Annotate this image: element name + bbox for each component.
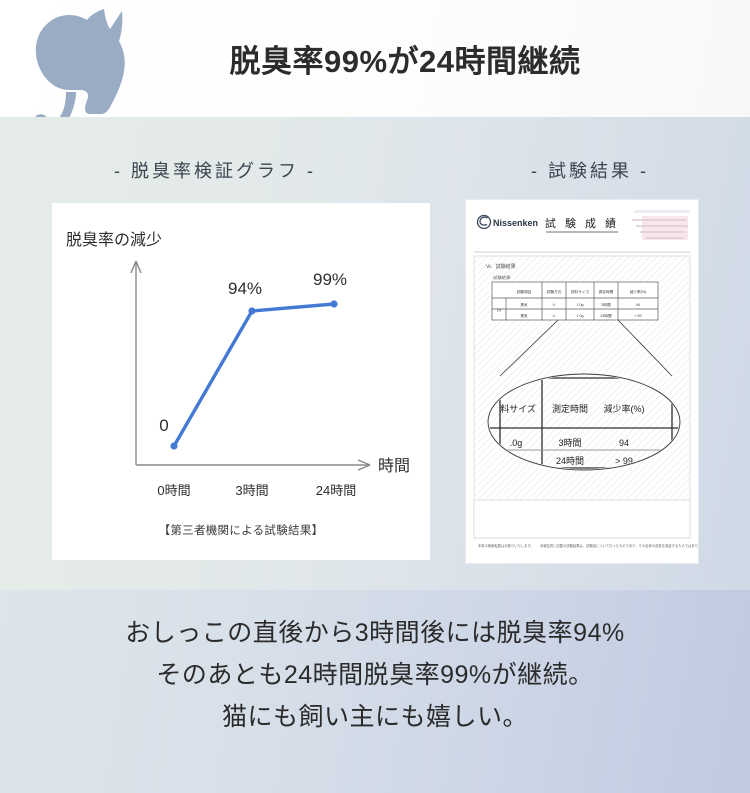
- line-chart: 脱臭率の減少 時間 0 94% 99% 0時間 3時間 24時間: [52, 203, 430, 523]
- document-title: 試 験 成 績: [545, 216, 619, 230]
- description-line-3: 猫にも飼い主にも嬉しい。: [0, 696, 750, 738]
- src-row-index: (1): [497, 308, 501, 312]
- x-tick-0h: 0時間: [157, 483, 190, 498]
- point-label-0: 0: [159, 416, 168, 435]
- graph-section-heading: - 脱臭率検証グラフ -: [0, 157, 430, 183]
- src-r1c2: 1.0g: [577, 314, 584, 318]
- src-r1c3: 24時間: [600, 313, 612, 318]
- point-label-94: 94%: [228, 279, 262, 298]
- src-r0c3: 3時間: [601, 302, 611, 307]
- page-title: 脱臭率99%が24時間継続: [0, 0, 750, 117]
- footer-note-right: 本報告書に記載の試験結果は、試験品について行ったものであり、その全体の品質を保証…: [540, 543, 698, 548]
- zoom-r0-size: .0g: [510, 438, 523, 448]
- src-r1c4: > 99: [634, 314, 641, 318]
- data-point-0h: [170, 442, 177, 449]
- content-band: - 脱臭率検証グラフ - - 試験結果 - 脱臭率の減少 時間 0 94% 99…: [0, 117, 750, 590]
- brand-name: Nissenken: [493, 218, 538, 228]
- description-line-1: おしっこの直後から3時間後には脱臭率94%: [0, 612, 750, 654]
- src-r0c2: 1.0g: [577, 303, 584, 307]
- src-col-3: 測定時間: [599, 289, 614, 294]
- x-tick-3h: 3時間: [235, 483, 268, 498]
- description-line-2: そのあとも24時間脱臭率99%が継続。: [0, 654, 750, 696]
- section-label: Ⅵ．試験結果: [486, 263, 516, 270]
- src-col-2: 試料サイズ: [571, 289, 590, 294]
- src-col-4: 減少率(%): [630, 289, 647, 294]
- data-line: [174, 304, 334, 446]
- point-label-99: 99%: [313, 270, 347, 289]
- subsection-label: -試験結果-: [492, 274, 512, 281]
- deodorization-graph-card: 脱臭率の減少 時間 0 94% 99% 0時間 3時間 24時間 【第三者機関に…: [52, 203, 430, 560]
- src-r1c0: 臭気: [520, 313, 528, 318]
- data-point-24h: [330, 300, 337, 307]
- src-col-1: 試験方式: [547, 289, 562, 294]
- src-r0c4: 94: [636, 303, 640, 307]
- x-tick-24h: 24時間: [316, 483, 356, 498]
- source-result-table: 試験項目 試験方式 試料サイズ 測定時間 減少率(%) (1) 臭気 ① 1.0…: [492, 282, 658, 320]
- data-point-3h: [248, 307, 255, 314]
- test-report-document-card: Nissenken 試 験 成 績 Ⅵ．試験結果 -試験結果-: [466, 200, 698, 563]
- y-axis-label: 脱臭率の減少: [66, 231, 162, 249]
- zoom-r0-time: 3時間: [558, 438, 581, 448]
- zoom-col-size: 料サイズ: [500, 403, 536, 414]
- x-axis-label: 時間: [378, 457, 410, 475]
- test-report-image: Nissenken 試 験 成 績 Ⅵ．試験結果 -試験結果-: [466, 200, 698, 563]
- footer-note-left: 本書の無断転載はお断りいたします。: [478, 543, 534, 548]
- zoom-col-time: 測定時間: [552, 403, 588, 414]
- bottom-band: おしっこの直後から3時間後には脱臭率94% そのあとも24時間脱臭率99%が継続…: [0, 590, 750, 793]
- description-text: おしっこの直後から3時間後には脱臭率94% そのあとも24時間脱臭率99%が継続…: [0, 612, 750, 738]
- zoom-r0-rate: 94: [619, 438, 629, 448]
- graph-caption: 【第三者機関による試験結果】: [52, 522, 430, 538]
- src-col-0: 試験項目: [517, 289, 532, 294]
- header-band: 脱臭率99%が24時間継続: [0, 0, 750, 117]
- zoom-col-rate: 減少率(%): [604, 403, 645, 414]
- src-r0c0: 臭気: [520, 302, 528, 307]
- zoom-r1-time: 24時間: [556, 456, 584, 466]
- result-section-heading: - 試験結果 -: [430, 157, 750, 183]
